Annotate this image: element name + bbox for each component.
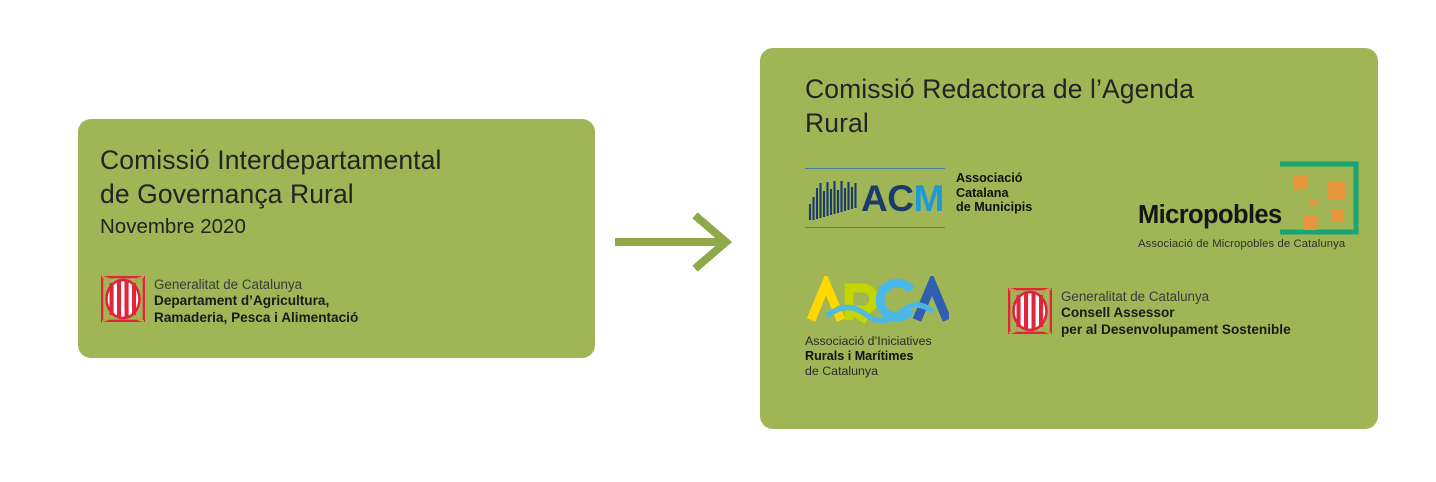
generalitat-label: Generalitat de Catalunya bbox=[1061, 289, 1291, 305]
commission-redactora-card: Comissió Redactora de l’Agenda Rural bbox=[760, 48, 1378, 429]
micropobles-logo: Micropobles Associació de Micropobles de… bbox=[1138, 160, 1345, 251]
left-card-title: Comissió Interdepartamental de Governanç… bbox=[100, 143, 570, 211]
senyera-shield-icon bbox=[101, 276, 145, 327]
commission-interdepartamental-card: Comissió Interdepartamental de Governanç… bbox=[78, 119, 595, 358]
generalitat-departament-agricultura-logo: Generalitat de Catalunya Departament d’A… bbox=[101, 276, 358, 327]
arca-logo: Associació d’Iniciatives Rurals i Maríti… bbox=[805, 276, 949, 379]
micropobles-wordmark: Micropobles bbox=[1138, 203, 1282, 229]
consell-assessor-line-2: per al Desenvolupament Sostenible bbox=[1061, 322, 1291, 339]
generalitat-label: Generalitat de Catalunya bbox=[154, 277, 358, 293]
arca-wordmark-icon bbox=[805, 276, 949, 326]
left-card-subtitle: Novembre 2020 bbox=[100, 214, 246, 240]
flow-arrow-right-icon bbox=[613, 212, 738, 272]
arca-sub-line-3: de Catalunya bbox=[805, 364, 949, 379]
generalitat-consell-assessor-logo: Generalitat de Catalunya Consell Assesso… bbox=[1008, 288, 1291, 339]
micropobles-subtitle: Associació de Micropobles de Catalunya bbox=[1138, 237, 1345, 251]
departament-line-2: Ramaderia, Pesca i Alimentació bbox=[154, 310, 358, 327]
acm-logo: ACM Associació Catalana de Municipis bbox=[805, 168, 1032, 228]
right-card-title: Comissió Redactora de l’Agenda Rural bbox=[805, 72, 1335, 140]
acm-letter-a: A bbox=[861, 178, 887, 219]
consell-assessor-line-1: Consell Assessor bbox=[1061, 305, 1291, 322]
acm-letter-m: M bbox=[913, 178, 943, 219]
departament-line-1: Departament d’Agricultura, bbox=[154, 293, 358, 310]
acm-sub-line-1: Associació bbox=[956, 171, 1032, 186]
acm-wordmark: ACM bbox=[805, 168, 945, 228]
arca-sub-line-1: Associació d’Iniciatives bbox=[805, 334, 949, 349]
acm-sub-line-2: Catalana bbox=[956, 186, 1032, 201]
acm-sub-line-3: de Municipis bbox=[956, 200, 1032, 215]
acm-bars-icon bbox=[807, 175, 859, 221]
senyera-shield-icon bbox=[1008, 288, 1052, 339]
arca-sub-line-2: Rurals i Marítimes bbox=[805, 349, 949, 364]
acm-letter-c: C bbox=[887, 178, 913, 219]
